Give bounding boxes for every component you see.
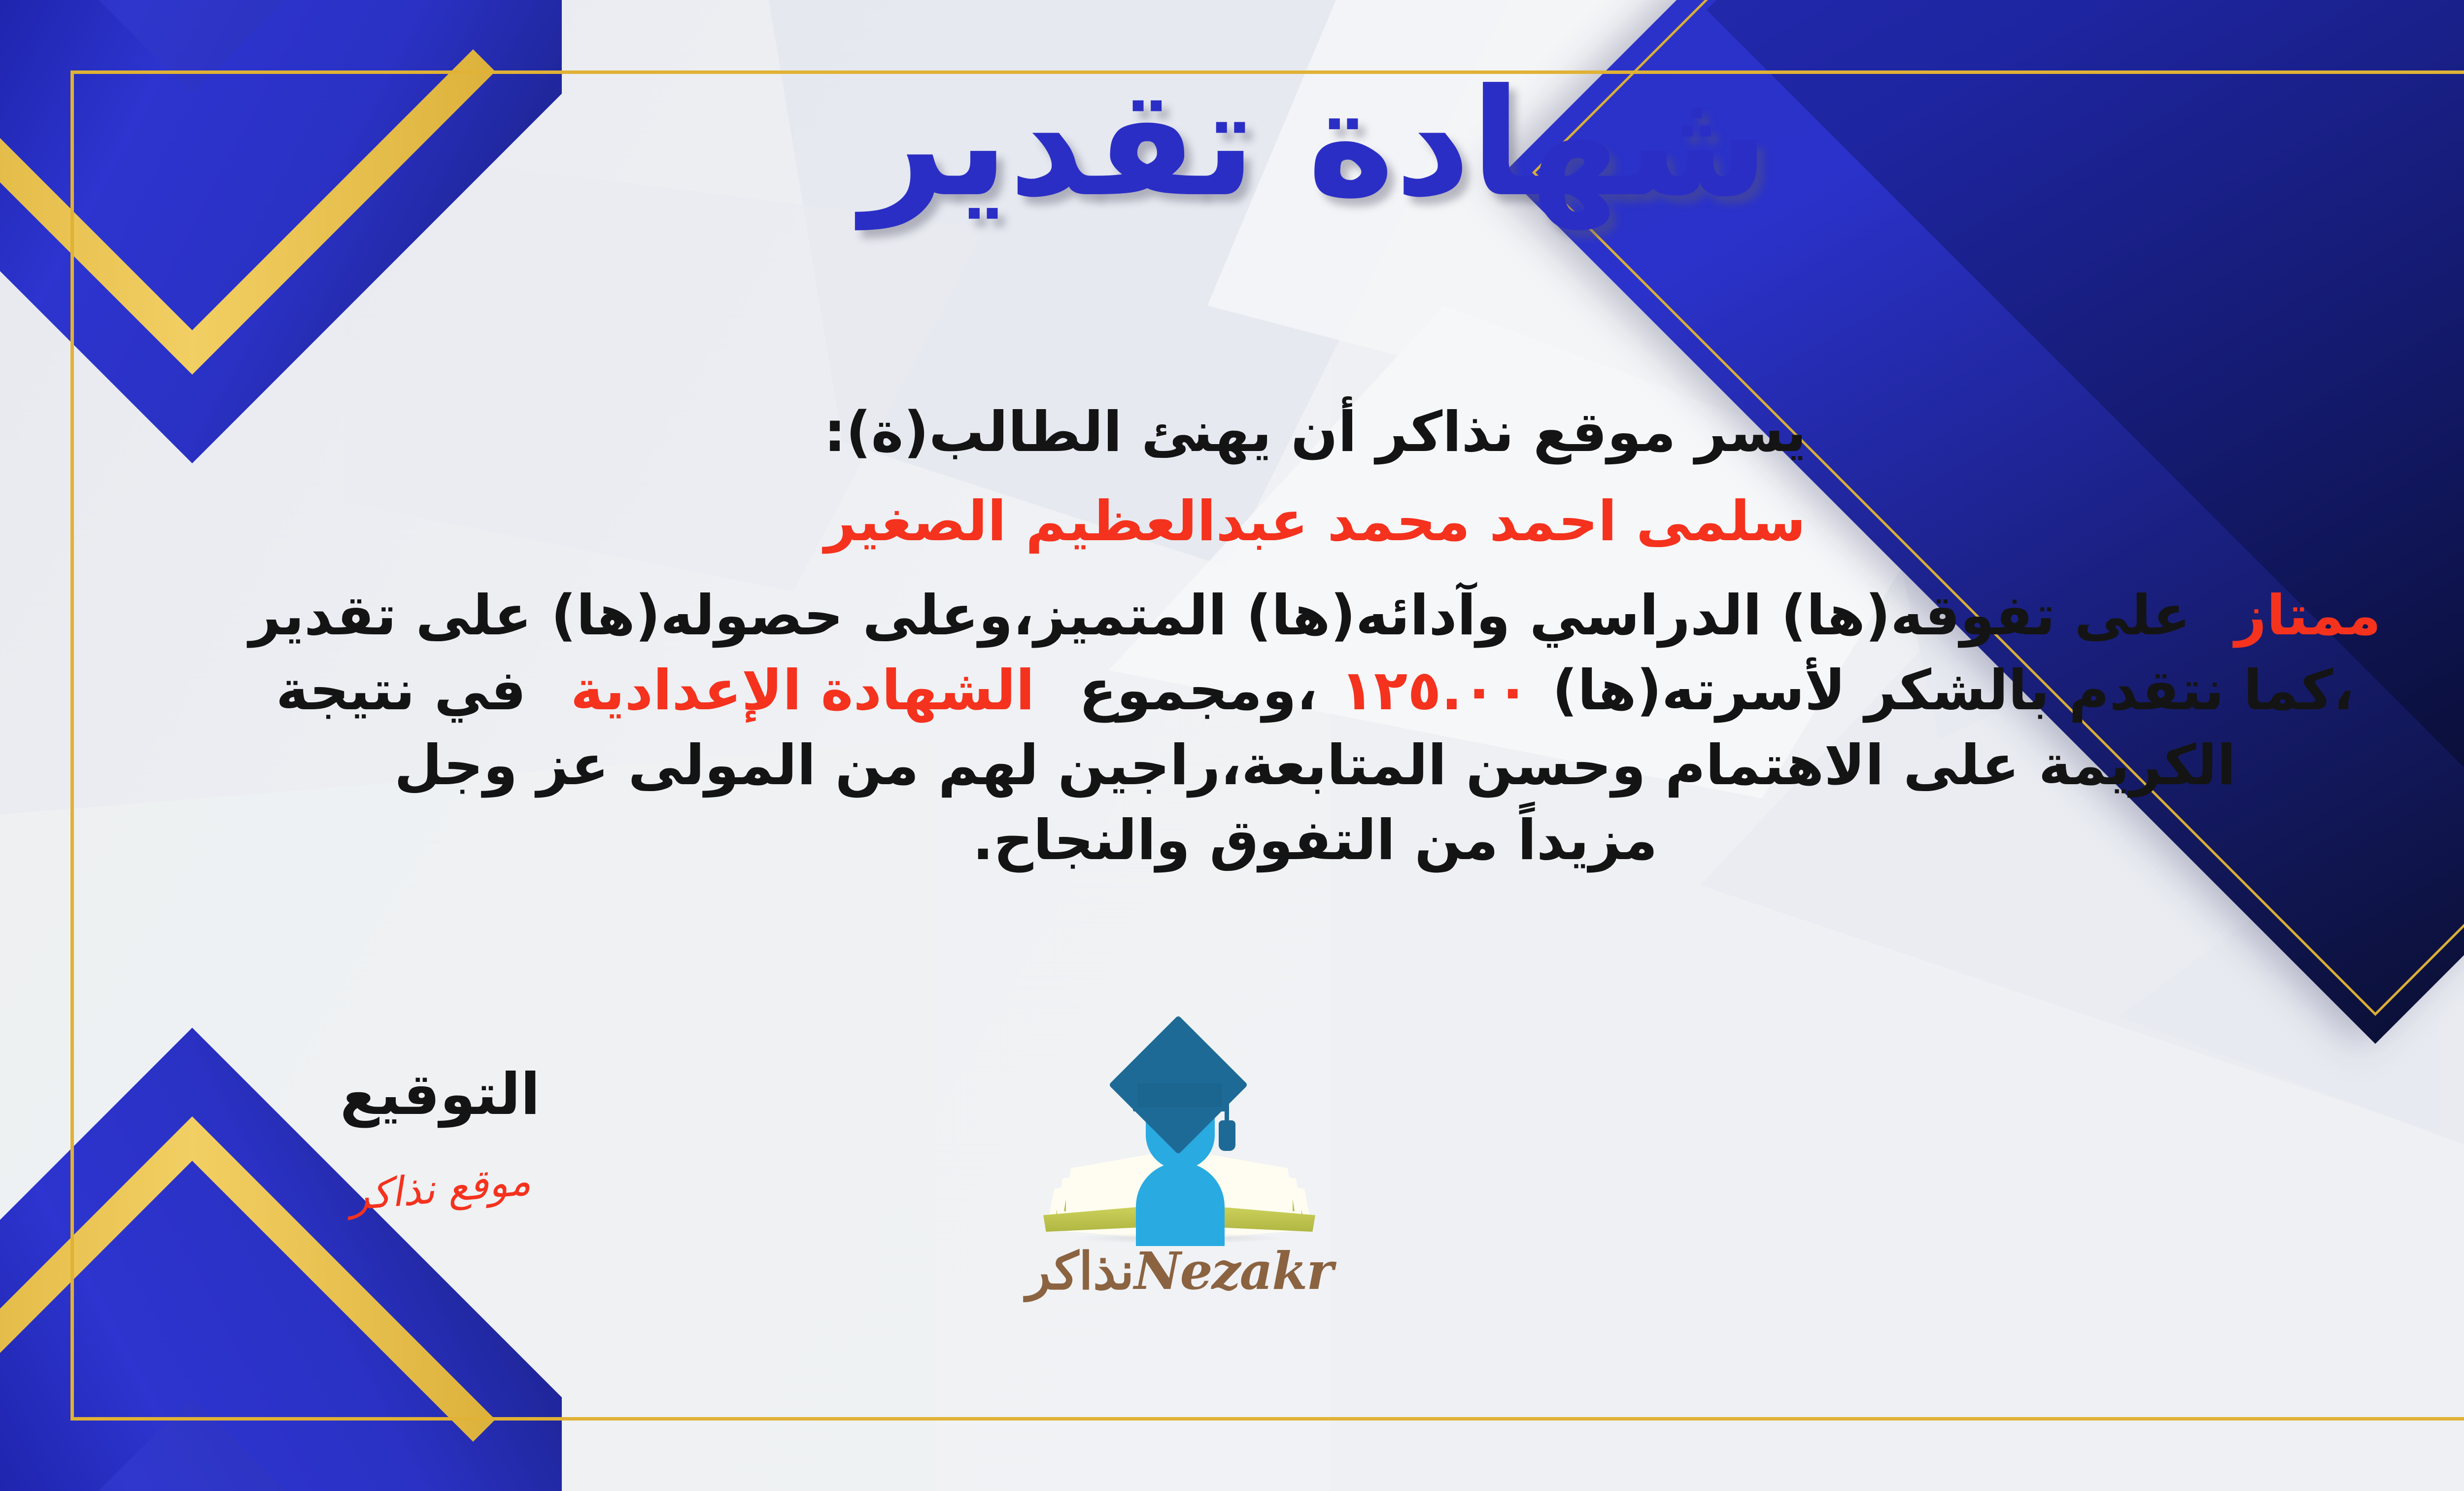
logo-graphic [1041,1032,1317,1239]
graduation-cap-board [1133,1079,1227,1111]
paragraph-line-4: مزيداً من التفوق والنجاح. [100,803,2464,878]
student-name: سلمى احمد محمد عبدالعظيم الصغير [70,485,2464,558]
paragraph-line-2-pre: في نتيجة [276,659,526,723]
paragraph-line-1: ممتازعلى تفوقه(ها) الدراسي وآدائه(ها) ال… [100,578,2464,653]
graduation-cap-tassel [1219,1120,1235,1151]
achievement-paragraph: ممتازعلى تفوقه(ها) الدراسي وآدائه(ها) ال… [70,578,2464,878]
greeting-line: يسر موقع نذاكر أن يهنئ الطالب(ة): [70,396,2464,469]
logo-latin-text: Nezakr [1134,1241,1333,1301]
signature-block: التوقيع موقع نذاكر [218,1061,662,1212]
paragraph-line-1-text: على تفوقه(ها) الدراسي وآدائه(ها) المتميز… [249,584,2190,648]
paragraph-line-2-post: ،كما نتقدم بالشكر لأسرته(ها) [1552,659,2354,723]
grade-value: ممتاز [2235,584,2381,648]
paragraph-line-2-mid: ،ومجموع [1079,659,1318,723]
signature-label: التوقيع [218,1061,662,1128]
certificate-page: شهادة تقدير يسر موقع نذاكر أن يهنئ الطال… [0,0,2464,1491]
graduation-cap-tassel-cord [1225,1081,1229,1123]
logo-wordmark: Nezakrنذاكر [1007,1241,1352,1301]
nezakr-logo: Nezakrنذاكر [1007,1032,1352,1301]
student-figure-body [1136,1162,1225,1246]
exam-name-value: الشهادة الإعدادية [571,659,1035,723]
paragraph-line-2: ،كما نتقدم بالشكر لأسرته(ها)١٢٥.٠٠،ومجمو… [100,653,2464,728]
certificate-content: شهادة تقدير يسر موقع نذاكر أن يهنئ الطال… [70,70,2464,1421]
signature-script: موقع نذاكر [217,1146,663,1231]
certificate-body: يسر موقع نذاكر أن يهنئ الطالب(ة): سلمى ا… [70,396,2464,878]
total-score-value: ١٢٥.٠٠ [1340,659,1530,723]
paragraph-line-3: الكريمة على الاهتمام وحسن المتابعة،راجين… [100,728,2464,803]
logo-arabic-text: نذاكر [1026,1241,1134,1301]
certificate-title: شهادة تقدير [70,51,2464,236]
